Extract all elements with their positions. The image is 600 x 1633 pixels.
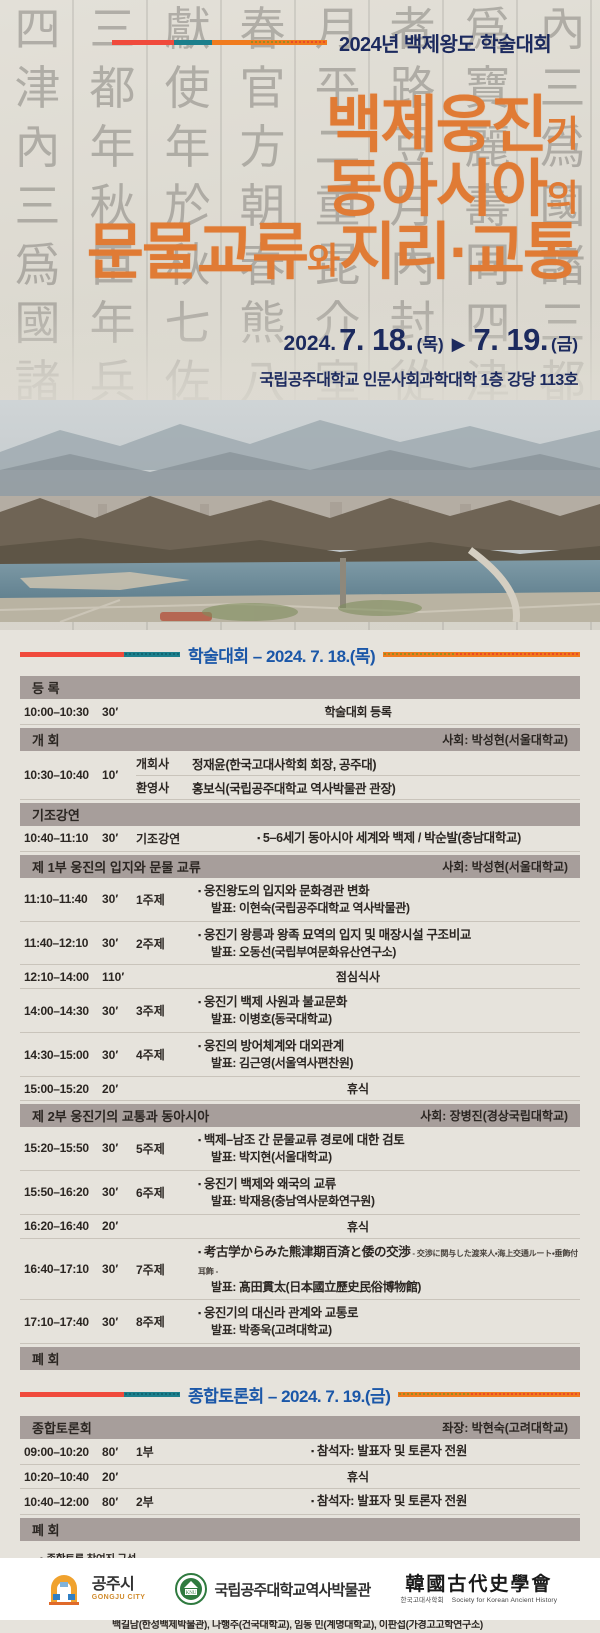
row-duration: 30′ xyxy=(102,1171,136,1214)
deco-segment-teal xyxy=(174,40,212,45)
row-duration: 30′ xyxy=(102,989,136,1032)
row-content: 웅진기 왕릉과 왕족 묘역의 입지 및 매장시설 구조비교 발표: 오동선(국립… xyxy=(198,922,580,965)
schedule-row: 15:00–15:2020′ 휴식 xyxy=(20,1077,580,1101)
row-content: 5–6세기 동아시아 세계와 백제 / 박순발(충남대학교) xyxy=(198,826,580,851)
row-topic: 考古学からみた熊津期百済と倭の交渉 xyxy=(198,1245,410,1259)
schedule-row: 16:40–17:1030′7주제 考古学からみた熊津期百済と倭の交渉 - 交渉… xyxy=(20,1239,580,1301)
day2-line-red xyxy=(20,1392,124,1397)
schedule-row: 15:20–15:5030′5주제 백제–남조 간 문물교류 경로에 대한 검토… xyxy=(20,1127,580,1171)
row-time: 11:10–11:40 xyxy=(20,878,102,921)
day2-header: 종합토론회 – 2024. 7. 19.(금) xyxy=(20,1380,580,1408)
kahs-name-en: Society for Korean Ancient History xyxy=(452,1597,557,1604)
row-content: 考古学からみた熊津期百済と倭の交渉 - 交渉に関与した渡来人・海上交通ルート・垂… xyxy=(198,1239,580,1300)
section-band: 폐 회 xyxy=(20,1347,580,1370)
section-band: 종합토론회좌장: 박현숙(고려대학교) xyxy=(20,1416,580,1439)
row-tag: 2주제 xyxy=(136,922,198,965)
title-line-1-main: 백제웅진 xyxy=(326,91,546,160)
row-duration: 10′ xyxy=(102,768,136,782)
row-subitem-name: 홍보식(국립공주대학교 역사박물관 관장) xyxy=(192,778,395,797)
row-content: 웅진기 백제 사원과 불교문화 발표: 이병호(동국대학교) xyxy=(198,989,580,1032)
day2-line-olive-dotted xyxy=(398,1392,470,1397)
row-subitem-name: 정재윤(한국고대사학회 회장, 공주대) xyxy=(192,754,376,773)
row-tag: 기조강연 xyxy=(136,826,198,851)
gongju-city-name-en: GONGJU CITY xyxy=(92,1594,146,1601)
row-time: 14:00–14:30 xyxy=(20,989,102,1032)
row-time: 10:40–12:00 xyxy=(20,1489,102,1514)
title-line-2-main: 동아시아 xyxy=(326,155,546,224)
row-duration: 30′ xyxy=(102,1127,136,1170)
row-content: 웅진의 방어체계와 대외관계 발표: 김근영(서울역사편찬원) xyxy=(198,1033,580,1076)
day1-line-red xyxy=(20,652,124,657)
row-speaker: 발표: 이병호(동국대학교) xyxy=(198,1011,580,1028)
row-topic: 웅진의 방어체계와 대외관계 xyxy=(198,1039,344,1053)
row-subitem-kind: 개회사 xyxy=(136,755,192,772)
row-tag: 7주제 xyxy=(136,1239,198,1300)
section-band: 등 록 xyxy=(20,676,580,699)
section-title: 폐 회 xyxy=(32,1349,60,1368)
row-time: 15:00–15:20 xyxy=(20,1077,102,1100)
row-duration: 30′ xyxy=(102,922,136,965)
section-title: 폐 회 xyxy=(32,1520,60,1539)
day1-sections: 등 록10:00–10:3030′ 학술대회 등록 개 회사회: 박성현(서울대… xyxy=(20,676,580,1370)
row-content: 웅진왕도의 입지와 문화경관 변화 발표: 이현숙(국립공주대학교 역사박물관) xyxy=(198,878,580,921)
date-end-weekday: (금) xyxy=(551,330,578,355)
row-duration: 30′ xyxy=(102,1239,136,1300)
row-duration: 80′ xyxy=(102,1439,136,1464)
row-time: 10:00–10:30 xyxy=(20,699,102,724)
section-title: 기조강연 xyxy=(32,805,80,824)
university-seal-icon: KNU xyxy=(175,1573,207,1605)
schedule-row: 10:00–10:3030′ 학술대회 등록 xyxy=(20,699,580,725)
row-time: 14:30–15:00 xyxy=(20,1033,102,1076)
row-tag: 1부 xyxy=(136,1439,198,1464)
section-title: 제 1부 웅진의 입지와 문물 교류 xyxy=(32,857,201,876)
row-topic: 웅진왕도의 입지와 문화경관 변화 xyxy=(198,884,369,898)
day1-header-line-right xyxy=(383,652,580,657)
row-time: 10:40–11:10 xyxy=(20,826,102,851)
schedule-row: 10:40–11:1030′기조강연 5–6세기 동아시아 세계와 백제 / 박… xyxy=(20,826,580,852)
schedule-row: 16:20–16:4020′ 휴식 xyxy=(20,1215,580,1239)
glyph-char: 爲 xyxy=(0,236,75,295)
row-subitem: 환영사 홍보식(국립공주대학교 역사박물관 관장) xyxy=(136,775,580,799)
day1-title: 학술대회 – 2024. 7. 18.(목) xyxy=(188,642,375,667)
schedule-container: 학술대회 – 2024. 7. 18.(목) 등 록10:00–10:3030′… xyxy=(0,640,600,1633)
day2-line-red-dotted xyxy=(470,1392,580,1397)
row-topic-wrap: 백제–남조 간 문물교류 경로에 대한 검토 xyxy=(198,1131,580,1149)
row-tag: 8주제 xyxy=(136,1300,198,1343)
row-topic: 참석자: 발표자 및 토론자 전원 xyxy=(311,1493,467,1510)
schedule-row: 10:20–10:4020′ 휴식 xyxy=(20,1465,580,1489)
deco-segment-red-dotted xyxy=(290,40,327,45)
schedule-row: 10:30–10:4010′ 개회사 정재윤(한국고대사학회 회장, 공주대) … xyxy=(20,751,580,800)
notes-line-discussants-cont: 백길남(한성백제박물관), 나행주(건국대학교), 임동 민(계명대학교), 이… xyxy=(40,1619,560,1633)
row-duration: 80′ xyxy=(102,1489,136,1514)
section-title: 등 록 xyxy=(32,678,60,697)
row-topic: 백제–남조 간 문물교류 경로에 대한 검토 xyxy=(198,1133,404,1147)
hero-banner: 四津內三爲國諸三都年秋臣年兵獻使年於秋七佐春官方朝春熊八月平二重昆介室者路豆月內… xyxy=(0,0,600,630)
row-speaker: 발표: 이현숙(국립공주대학교 역사박물관) xyxy=(198,900,580,917)
row-duration: 30′ xyxy=(102,1033,136,1076)
date-year: 2024. xyxy=(284,332,337,356)
row-topic: 웅진기의 대신라 관계와 교통로 xyxy=(198,1306,358,1320)
date-end: 7. 19. xyxy=(473,322,548,358)
section-band: 폐 회 xyxy=(20,1518,580,1541)
section-band: 기조강연 xyxy=(20,803,580,826)
logo-kongju-university-museum: KNU 국립공주대학교역사박물관 xyxy=(175,1573,370,1605)
row-time: 15:50–16:20 xyxy=(20,1171,102,1214)
schedule-row: 17:10–17:4030′8주제 웅진기의 대신라 관계와 교통로 발표: 박… xyxy=(20,1300,580,1344)
row-text: 학술대회 등록 xyxy=(324,703,391,720)
title-line-2: 동아시아의 xyxy=(87,160,578,220)
glyph-char: 內 xyxy=(0,118,75,177)
date-start-weekday: (목) xyxy=(417,330,444,355)
section-title: 종합토론회 xyxy=(32,1418,92,1437)
row-duration: 20′ xyxy=(102,1215,136,1238)
section-band: 제 2부 웅진기의 교통과 동아시아사회: 장병진(경상국립대학교) xyxy=(20,1104,580,1127)
day2-line-teal-dotted xyxy=(124,1392,180,1397)
title-line-1-suffix: 기 xyxy=(546,113,578,154)
row-speaker: 발표: 오동선(국립부여문화유산연구소) xyxy=(198,944,580,961)
row-time: 16:20–16:40 xyxy=(20,1215,102,1238)
gongju-city-name-kr: 공주시 xyxy=(92,1577,146,1594)
poster-main-title: 백제웅진기 동아시아의 문물교류와지리·교통 xyxy=(87,96,578,283)
row-duration: 30′ xyxy=(102,699,136,724)
title-line-3: 문물교류와지리·교통 xyxy=(87,223,578,283)
event-kicker: 2024년 백제왕도 학술대회 xyxy=(339,28,551,57)
title-line-3-main-a: 문물교류 xyxy=(87,218,307,287)
day1-line-teal-dotted xyxy=(124,652,180,657)
kongju-museum-name: 국립공주대학교역사박물관 xyxy=(214,1579,370,1600)
section-chair: 사회: 박성현(서울대학교) xyxy=(442,858,568,875)
row-tag: 1주제 xyxy=(136,878,198,921)
row-content: 참석자: 발표자 및 토론자 전원 xyxy=(198,1439,580,1464)
row-duration: 30′ xyxy=(102,826,136,851)
row-content: 웅진기의 대신라 관계와 교통로 발표: 박종욱(고려대학교) xyxy=(198,1300,580,1343)
row-time: 10:20–10:40 xyxy=(20,1465,102,1488)
svg-text:KNU: KNU xyxy=(186,1591,197,1596)
schedule-row: 14:30–15:0030′4주제 웅진의 방어체계와 대외관계 발표: 김근영… xyxy=(20,1033,580,1077)
row-topic: 참석자: 발표자 및 토론자 전원 xyxy=(311,1443,467,1460)
schedule-row: 11:40–12:1030′2주제 웅진기 왕릉과 왕족 묘역의 입지 및 매장… xyxy=(20,922,580,966)
schedule-row: 12:10–14:00110′ 점심식사 xyxy=(20,965,580,989)
day1-header: 학술대회 – 2024. 7. 18.(목) xyxy=(20,640,580,668)
section-chair: 좌장: 박현숙(고려대학교) xyxy=(442,1419,568,1436)
row-duration: 20′ xyxy=(102,1465,136,1488)
day1-line-olive-dotted xyxy=(383,652,455,657)
day2-header-line-right xyxy=(398,1392,580,1397)
row-speaker: 발표: 박재용(충남역사문화연구원) xyxy=(198,1193,580,1210)
day2-header-line-left xyxy=(20,1392,180,1397)
hero-kicker-row: 2024년 백제왕도 학술대회 xyxy=(0,28,600,57)
section-band: 제 1부 웅진의 입지와 문물 교류사회: 박성현(서울대학교) xyxy=(20,855,580,878)
date-range-arrow-icon: ▶ xyxy=(447,334,471,355)
row-topic-wrap: 웅진의 방어체계와 대외관계 xyxy=(198,1037,580,1055)
row-time-block: 10:30–10:4010′ xyxy=(20,751,136,799)
row-topic-wrap: 웅진기 백제 사원과 불교문화 xyxy=(198,993,580,1011)
title-line-2-suffix: 의 xyxy=(546,177,578,218)
row-centered-text: 점심식사 xyxy=(136,965,580,988)
row-content: 학술대회 등록 xyxy=(136,699,580,724)
date-start: 7. 18. xyxy=(339,322,414,358)
row-topic-wrap: 웅진기의 대신라 관계와 교통로 xyxy=(198,1304,580,1322)
title-line-1: 백제웅진기 xyxy=(87,96,578,156)
row-duration: 30′ xyxy=(102,1300,136,1343)
row-tag: 5주제 xyxy=(136,1127,198,1170)
deco-segment-red xyxy=(112,40,174,45)
logo-korean-ancient-history-society: 韓國古代史學會 한국고대사학회 Society for Korean Ancie… xyxy=(401,1574,558,1604)
row-topic-wrap: 웅진기 왕릉과 왕족 묘역의 입지 및 매장시설 구조비교 xyxy=(198,926,580,944)
row-centered-text: 휴식 xyxy=(136,1465,580,1488)
row-centered-text: 휴식 xyxy=(136,1077,580,1100)
row-subitem-kind: 환영사 xyxy=(136,779,192,796)
row-tag: 2부 xyxy=(136,1489,198,1514)
row-time: 09:00–10:20 xyxy=(20,1439,102,1464)
row-time: 11:40–12:10 xyxy=(20,922,102,965)
schedule-row: 10:40–12:0080′2부 참석자: 발표자 및 토론자 전원 xyxy=(20,1489,580,1515)
glyph-char: 津 xyxy=(0,59,75,118)
gongju-arch-icon xyxy=(43,1572,85,1606)
title-line-3-particle: 와 xyxy=(307,240,339,281)
row-duration: 30′ xyxy=(102,878,136,921)
deco-segment-olive-dotted xyxy=(250,40,290,45)
event-date-range: 2024. 7. 18. (목) ▶ 7. 19. (금) xyxy=(284,322,578,358)
row-time: 10:30–10:40 xyxy=(20,768,102,782)
sponsor-footer: 공주시 GONGJU CITY KNU 국립공주대학교역사박물관 韓國古代史學會… xyxy=(0,1558,600,1620)
row-topic: 웅진기 백제와 왜국의 교류 xyxy=(198,1177,336,1191)
section-title: 제 2부 웅진기의 교통과 동아시아 xyxy=(32,1106,209,1125)
title-line-3-main-b: 지리·교통 xyxy=(339,218,578,287)
glyph-char: 三 xyxy=(0,177,75,236)
day2-sections: 종합토론회좌장: 박현숙(고려대학교)09:00–10:2080′1부 참석자:… xyxy=(20,1416,580,1541)
row-content: 백제–남조 간 문물교류 경로에 대한 검토 발표: 박지현(서울대학교) xyxy=(198,1127,580,1170)
day1-line-red-dotted xyxy=(455,652,580,657)
aerial-photo-gongju xyxy=(0,400,600,622)
schedule-row: 15:50–16:2030′6주제 웅진기 백제와 왜국의 교류 발표: 박재용… xyxy=(20,1171,580,1215)
row-tag: 6주제 xyxy=(136,1171,198,1214)
row-speaker: 발표: 박종욱(고려대학교) xyxy=(198,1322,580,1339)
section-band: 개 회사회: 박성현(서울대학교) xyxy=(20,728,580,751)
row-topic: 5–6세기 동아시아 세계와 백제 / 박순발(충남대학교) xyxy=(257,830,521,847)
row-topic-wrap: 웅진왕도의 입지와 문화경관 변화 xyxy=(198,882,580,900)
gongju-city-wordmark: 공주시 GONGJU CITY xyxy=(92,1577,146,1601)
section-chair: 사회: 장병진(경상국립대학교) xyxy=(420,1107,568,1124)
row-topic: 웅진기 왕릉과 왕족 묘역의 입지 및 매장시설 구조비교 xyxy=(198,928,471,942)
day1-header-line-left xyxy=(20,652,180,657)
kahs-name-hanja: 韓國古代史學會 xyxy=(405,1574,552,1595)
row-tag: 3주제 xyxy=(136,989,198,1032)
section-title: 개 회 xyxy=(32,730,60,749)
row-centered-text: 휴식 xyxy=(136,1215,580,1238)
row-topic-wrap: 考古学からみた熊津期百済と倭の交渉 - 交渉に関与した渡来人・海上交通ルート・垂… xyxy=(198,1243,580,1279)
row-time: 17:10–17:40 xyxy=(20,1300,102,1343)
row-subitems: 개회사 정재윤(한국고대사학회 회장, 공주대) 환영사 홍보식(국립공주대학교… xyxy=(136,751,580,799)
row-duration: 20′ xyxy=(102,1077,136,1100)
logo-gongju-city: 공주시 GONGJU CITY xyxy=(43,1572,146,1606)
row-tag: 4주제 xyxy=(136,1033,198,1076)
row-speaker: 발표: 박지현(서울대학교) xyxy=(198,1149,580,1166)
row-speaker: 발표: 髙田貫太(日本國立歷史民俗博物館) xyxy=(198,1279,580,1296)
kahs-name-sub: 한국고대사학회 Society for Korean Ancient Histo… xyxy=(401,1597,558,1604)
decorative-color-bar xyxy=(112,40,327,45)
schedule-row: 11:10–11:4030′1주제 웅진왕도의 입지와 문화경관 변화 발표: … xyxy=(20,878,580,922)
row-speaker: 발표: 김근영(서울역사편찬원) xyxy=(198,1055,580,1072)
row-topic-wrap: 웅진기 백제와 왜국의 교류 xyxy=(198,1175,580,1193)
row-time: 15:20–15:50 xyxy=(20,1127,102,1170)
section-chair: 사회: 박성현(서울대학교) xyxy=(442,731,568,748)
row-content: 웅진기 백제와 왜국의 교류 발표: 박재용(충남역사문화연구원) xyxy=(198,1171,580,1214)
row-duration: 110′ xyxy=(102,965,136,988)
row-time: 16:40–17:10 xyxy=(20,1239,102,1300)
row-topic: 웅진기 백제 사원과 불교문화 xyxy=(198,995,347,1009)
schedule-row: 14:00–14:3030′3주제 웅진기 백제 사원과 불교문화 발표: 이병… xyxy=(20,989,580,1033)
row-time: 12:10–14:00 xyxy=(20,965,102,988)
kahs-name-kr: 한국고대사학회 xyxy=(401,1597,444,1604)
schedule-row: 09:00–10:2080′1부 참석자: 발표자 및 토론자 전원 xyxy=(20,1439,580,1465)
event-venue: 국립공주대학교 인문사회과학대학 1층 강당 113호 xyxy=(259,366,578,390)
deco-segment-orange xyxy=(212,40,250,45)
day2-title: 종합토론회 – 2024. 7. 19.(금) xyxy=(188,1382,390,1407)
row-content: 참석자: 발표자 및 토론자 전원 xyxy=(198,1489,580,1514)
row-subitem: 개회사 정재윤(한국고대사학회 회장, 공주대) xyxy=(136,751,580,775)
